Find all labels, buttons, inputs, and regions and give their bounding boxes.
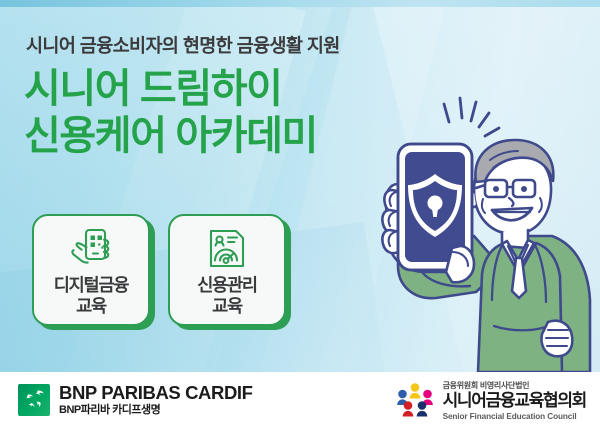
bnp-paribas-cardif-logo: BNP PARIBAS CARDIF BNP파리바 카디프생명 xyxy=(18,383,253,417)
sfec-logo: 금융위원회 비영리사단법인 시니어금융교육협의회 Senior Financia… xyxy=(395,380,586,422)
badge-label-line-1: 신용관리 xyxy=(197,275,257,295)
sfec-name-en: Senior Financial Education Council xyxy=(443,411,586,422)
senior-man-with-glasses-illustration xyxy=(352,86,600,372)
badge-label-line-2: 교육 xyxy=(76,296,106,316)
poster-footer: BNP PARIBAS CARDIF BNP파리바 카디프생명 xyxy=(0,372,600,429)
bnp-paribas-cardif-wordmark: BNP PARIBAS CARDIF BNP파리바 카디프생명 xyxy=(59,383,253,417)
sfec-people-circle-logo xyxy=(395,381,435,422)
badge-label-line-2: 교육 xyxy=(212,296,242,316)
poster-canvas: 시니어 금융소비자의 현명한 금융생활 지원 시니어 드림하이 신용케어 아카데… xyxy=(0,0,600,429)
bnp-paribas-stars-logo xyxy=(18,384,50,416)
credit-report-gauge-icon xyxy=(206,226,248,272)
sparkle-lines xyxy=(444,98,499,136)
badge-label-line-1: 디지털금융 xyxy=(54,275,129,295)
badge-digital-finance[interactable]: 디지털금융 교육 xyxy=(32,214,150,326)
hand-holding-smartphone-qr-icon xyxy=(68,226,114,272)
badge-credit-management[interactable]: 신용관리 교육 xyxy=(168,214,286,326)
badge-digital-finance-label: 디지털금융 교육 xyxy=(54,275,129,317)
sfec-prefix: 금융위원회 비영리사단법인 xyxy=(443,380,586,391)
program-badge-list: 디지털금융 교육 신용관리 교육 xyxy=(32,214,286,326)
bnp-name-en: BNP PARIBAS CARDIF xyxy=(59,383,253,403)
sfec-wordmark: 금융위원회 비영리사단법인 시니어금융교육협의회 Senior Financia… xyxy=(443,380,586,422)
poster-tagline: 시니어 금융소비자의 현명한 금융생활 지원 xyxy=(26,32,340,58)
headline-line-2: 신용케어 아카데미 xyxy=(24,113,317,160)
badge-credit-management-label: 신용관리 교육 xyxy=(197,275,257,317)
sfec-name-ko: 시니어금융교육협의회 xyxy=(443,391,586,411)
bnp-name-ko: BNP파리바 카디프생명 xyxy=(59,403,253,417)
headline-line-1: 시니어 드림하이 xyxy=(24,66,317,113)
top-accent-strip xyxy=(0,0,600,7)
poster-headline: 시니어 드림하이 신용케어 아카데미 xyxy=(24,66,317,160)
